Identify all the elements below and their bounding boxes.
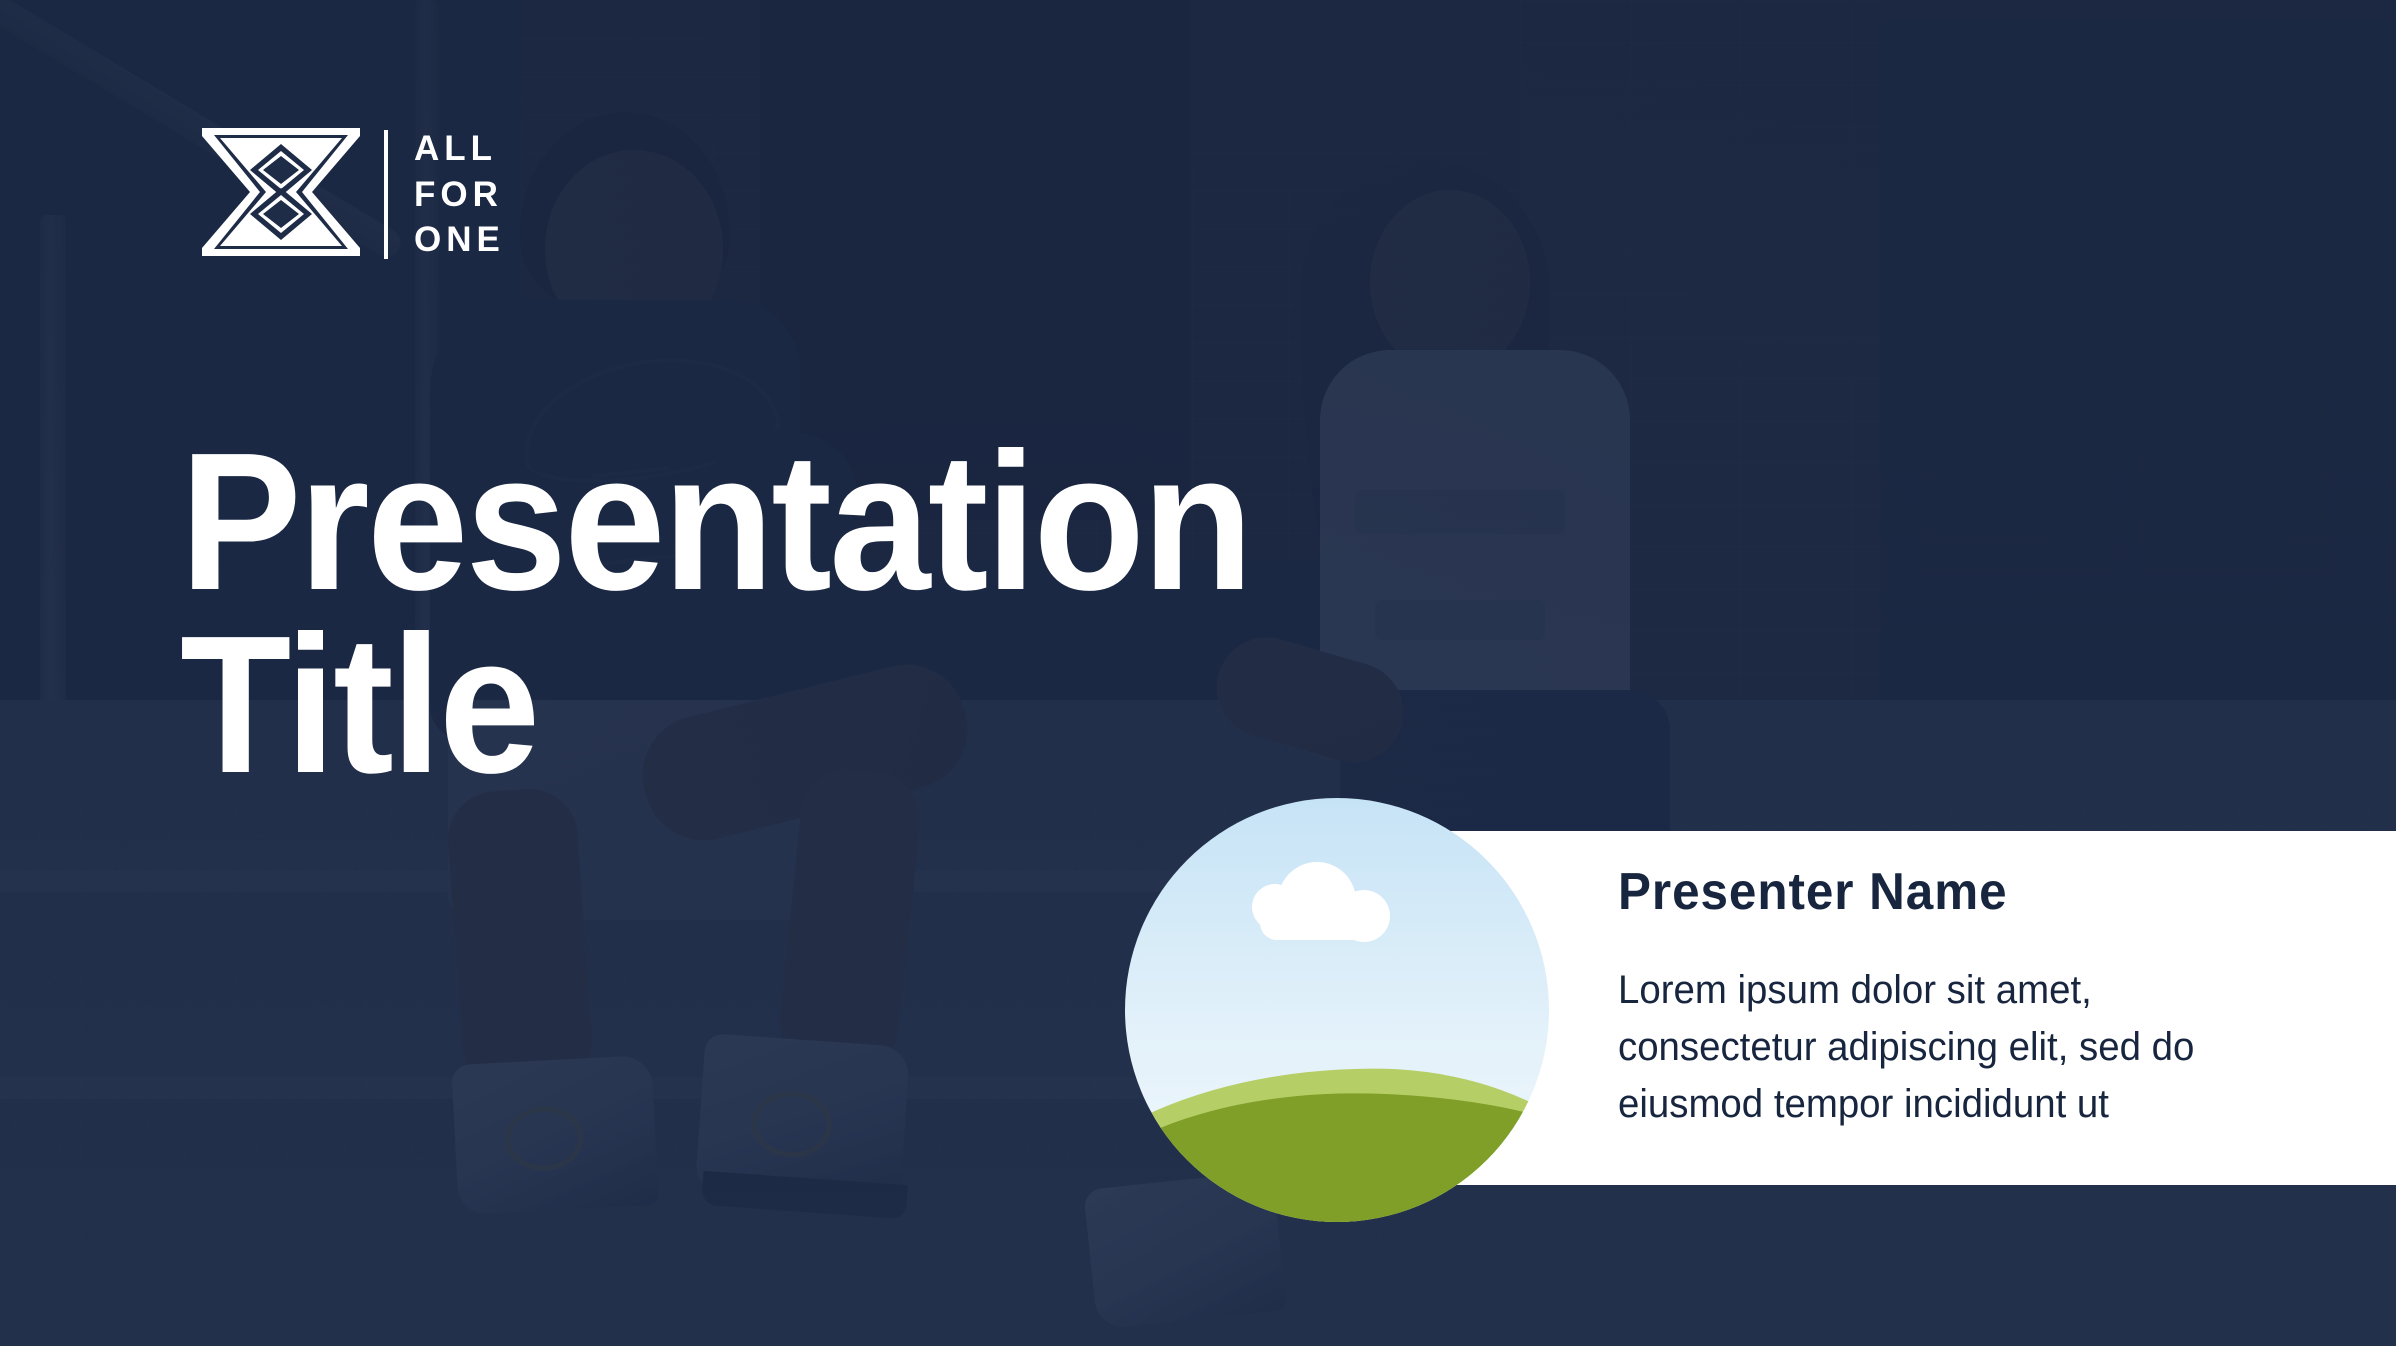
- slide-title: Presentation Title: [180, 431, 1408, 796]
- presenter-bio: Lorem ipsum dolor sit amet, consectetur …: [1618, 962, 2290, 1132]
- presentation-title-slide: ALL FOR ONE Presentation Title Presenter…: [0, 0, 2396, 1346]
- presenter-card-body: Presenter Name Lorem ipsum dolor sit ame…: [1618, 862, 2318, 1132]
- logo-tagline: ALL FOR ONE: [414, 126, 505, 263]
- logo-tagline-line-3: ONE: [414, 217, 505, 263]
- xavier-x-icon: [200, 126, 362, 258]
- presenter-name: Presenter Name: [1618, 862, 2283, 922]
- logo-tagline-line-2: FOR: [414, 172, 505, 218]
- logo-tagline-line-1: ALL: [414, 126, 505, 172]
- logo-divider: [384, 130, 388, 259]
- presenter-photo-placeholder[interactable]: [1125, 798, 1549, 1222]
- xavier-logo: ALL FOR ONE: [200, 126, 505, 263]
